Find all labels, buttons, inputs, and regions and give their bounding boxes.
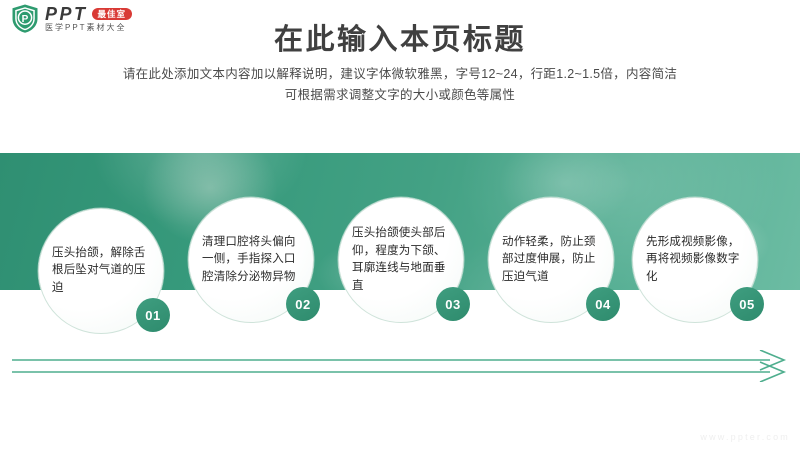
step-number-badge: 02	[286, 287, 320, 321]
step-number-badge: 01	[136, 298, 170, 332]
subtitle-line-2: 可根据需求调整文字的大小或颜色等属性	[0, 85, 800, 106]
step-text: 压头抬颌使头部后仰，程度为下颌、耳廓连线与地面垂直	[352, 225, 450, 295]
step-text: 动作轻柔，防止颈部过度伸展，防止压迫气道	[502, 234, 600, 287]
step-item[interactable]: 清理口腔将头偏向一侧，手指探入口腔清除分泌物异物 02	[188, 197, 314, 323]
step-item[interactable]: 动作轻柔，防止颈部过度伸展，防止压迫气道 04	[488, 197, 614, 323]
step-text: 压头抬颌，解除舌根后坠对气道的压迫	[52, 245, 150, 298]
page-title: 在此输入本页标题	[0, 16, 800, 58]
step-number-badge: 05	[730, 287, 764, 321]
step-item[interactable]: 压头抬颌，解除舌根后坠对气道的压迫 01	[38, 208, 164, 334]
step-text: 清理口腔将头偏向一侧，手指探入口腔清除分泌物异物	[202, 234, 300, 287]
step-item[interactable]: 压头抬颌使头部后仰，程度为下颌、耳廓连线与地面垂直 03	[338, 197, 464, 323]
watermark: www.ppter.com	[700, 432, 790, 442]
page-subtitle: 请在此处添加文本内容加以解释说明，建议字体微软雅黑，字号12~24，行距1.2~…	[0, 64, 800, 106]
step-number-badge: 04	[586, 287, 620, 321]
double-line-arrow-right-icon	[8, 350, 792, 382]
step-text: 先形成视频影像，再将视频影像数字化	[646, 234, 744, 287]
step-number-badge: 03	[436, 287, 470, 321]
step-item[interactable]: 先形成视频影像，再将视频影像数字化 05	[632, 197, 758, 323]
slide-canvas: P PPT 最佳室 医学PPT素材大全 在此输入本页标题 请在此处添加文本内容加…	[0, 0, 800, 450]
subtitle-line-1: 请在此处添加文本内容加以解释说明，建议字体微软雅黑，字号12~24，行距1.2~…	[0, 64, 800, 85]
